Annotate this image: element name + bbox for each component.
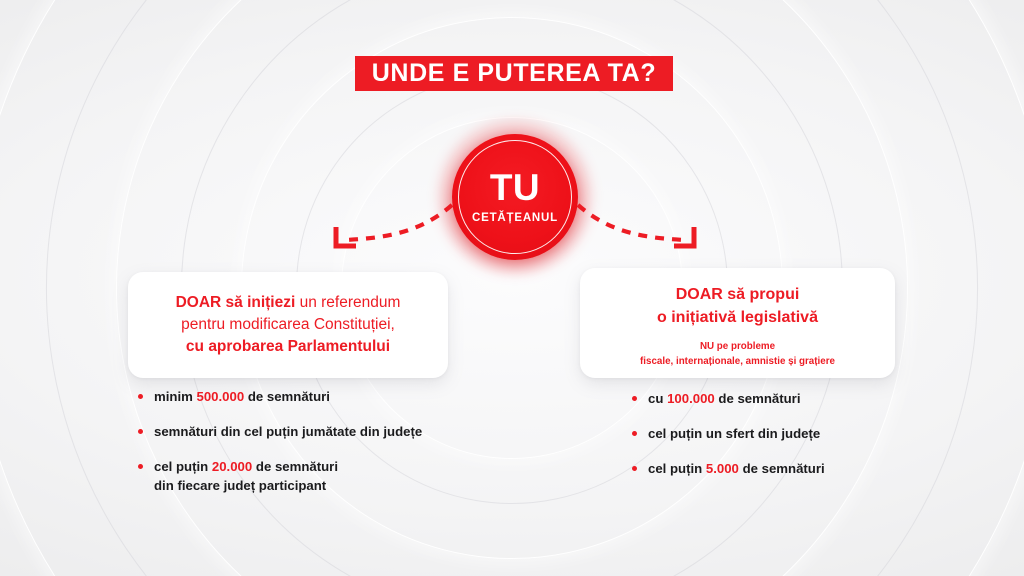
left-branch-bullet-list: minim 500.000 de semnături semnături din…: [138, 388, 468, 512]
right-branch-card: DOAR să propui o inițiativă legislativă …: [580, 268, 895, 378]
list-item: cel puțin 20.000 de semnături din fiecar…: [138, 458, 468, 494]
list-item: cel puțin un sfert din județe: [632, 425, 952, 443]
left-heading-line1-bold: DOAR să inițiezi: [176, 294, 296, 311]
center-node-citizen: TU CETĂȚEANUL: [452, 134, 578, 260]
left-branch-card: DOAR să inițiezi un referendum pentru mo…: [128, 272, 448, 378]
bullet-suffix: de semnături: [244, 389, 330, 404]
bullet-dot-icon: [138, 394, 143, 399]
right-branch-exclusions-note: NU pe probleme fiscale, internaționale, …: [580, 340, 895, 368]
list-item-text: minim 500.000 de semnături: [154, 388, 330, 406]
list-item: minim 500.000 de semnături: [138, 388, 468, 406]
bullet-prefix: cel puțin: [154, 459, 212, 474]
bullet-prefix: cel puțin un sfert din județe: [648, 426, 820, 441]
bullet-dot-icon: [632, 431, 637, 436]
bullet-dot-icon: [138, 429, 143, 434]
list-item: cel puțin 5.000 de semnături: [632, 460, 952, 478]
list-item: cu 100.000 de semnături: [632, 390, 952, 408]
list-item-text: cel puțin 20.000 de semnături din fiecar…: [154, 458, 338, 494]
bullet-number: 100.000: [667, 391, 715, 406]
left-heading-line3: cu aprobarea Parlamentului: [186, 338, 390, 355]
list-item-text: semnături din cel puțin jumătate din jud…: [154, 423, 422, 441]
bullet-dot-icon: [632, 396, 637, 401]
bullet-prefix: semnături din cel puțin jumătate din jud…: [154, 424, 422, 439]
center-node-main-label: TU: [490, 169, 540, 206]
bullet-suffix: de semnături: [252, 459, 338, 474]
left-heading-line1-rest: un referendum: [295, 294, 400, 311]
infographic-canvas: UNDE E PUTEREA TA? TU CETĂȚEANUL DOAR să…: [0, 0, 1024, 576]
page-title: UNDE E PUTEREA TA?: [372, 61, 656, 86]
left-branch-heading: DOAR să inițiezi un referendum pentru mo…: [128, 272, 448, 358]
bullet-suffix: de semnături: [715, 391, 801, 406]
page-title-bar: UNDE E PUTEREA TA?: [355, 56, 673, 91]
bullet-dot-icon: [632, 466, 637, 471]
bullet-prefix: minim: [154, 389, 197, 404]
right-branch-heading: DOAR să propui o inițiativă legislativă: [580, 268, 895, 329]
right-branch-bullet-list: cu 100.000 de semnături cel puțin un sfe…: [632, 390, 952, 496]
right-heading-line2: o inițiativă legislativă: [657, 309, 818, 326]
bullet-prefix: cu: [648, 391, 667, 406]
bullet-number: 20.000: [212, 459, 252, 474]
list-item: semnături din cel puțin jumătate din jud…: [138, 423, 468, 441]
bullet-prefix: cel puțin: [648, 461, 706, 476]
bullet-second-line: din fiecare județ participant: [154, 478, 326, 493]
bullet-suffix: de semnături: [739, 461, 825, 476]
bullet-number: 5.000: [706, 461, 739, 476]
center-node-sub-label: CETĂȚEANUL: [472, 213, 558, 225]
list-item-text: cel puțin un sfert din județe: [648, 425, 820, 443]
list-item-text: cu 100.000 de semnături: [648, 390, 800, 408]
right-heading-line1: DOAR să propui: [676, 286, 800, 303]
left-heading-line2: pentru modificarea Constituției,: [181, 316, 395, 333]
note-line2: fiscale, internaționale, amnistie și gra…: [640, 356, 835, 367]
bullet-dot-icon: [138, 464, 143, 469]
bullet-number: 500.000: [197, 389, 245, 404]
note-line1: NU pe probleme: [700, 341, 775, 352]
list-item-text: cel puțin 5.000 de semnături: [648, 460, 825, 478]
